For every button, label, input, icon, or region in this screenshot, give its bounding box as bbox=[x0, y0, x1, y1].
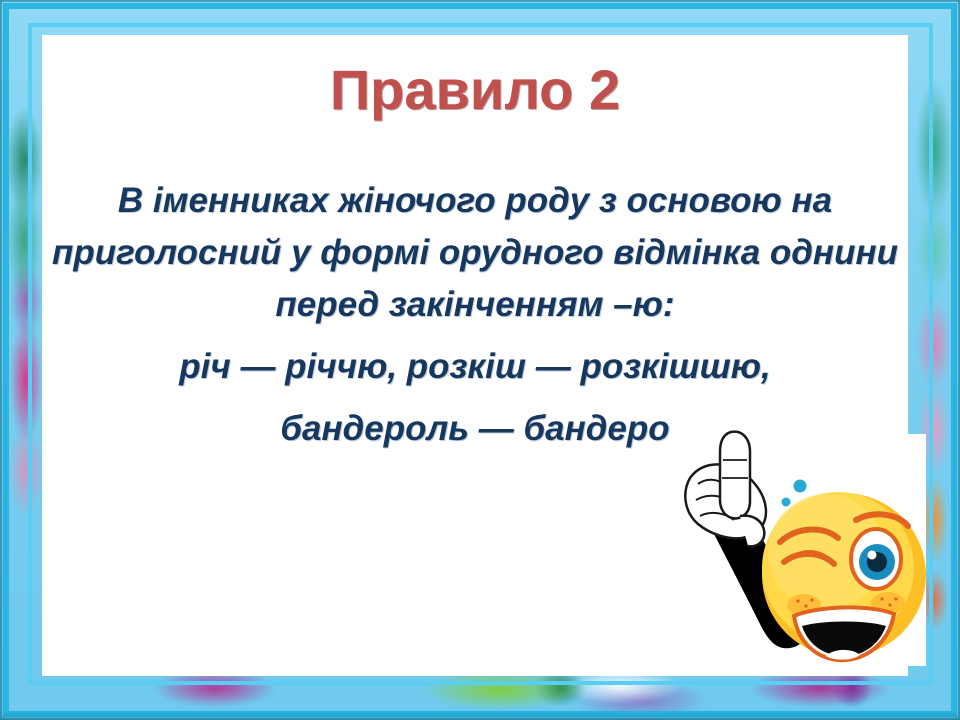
slide-canvas: Правило 2 В іменниках жіночого роду з ос… bbox=[0, 0, 960, 720]
page-title: Правило 2 bbox=[42, 57, 908, 122]
rule-example-line-1: річ — річчю, розкіш — розкішшю, bbox=[52, 341, 898, 393]
smiley-pointing-finger-icon bbox=[676, 420, 936, 670]
rule-body: В іменниках жіночого роду з основою на п… bbox=[52, 175, 898, 455]
rule-definition-text: В іменниках жіночого роду з основою на п… bbox=[52, 175, 898, 331]
